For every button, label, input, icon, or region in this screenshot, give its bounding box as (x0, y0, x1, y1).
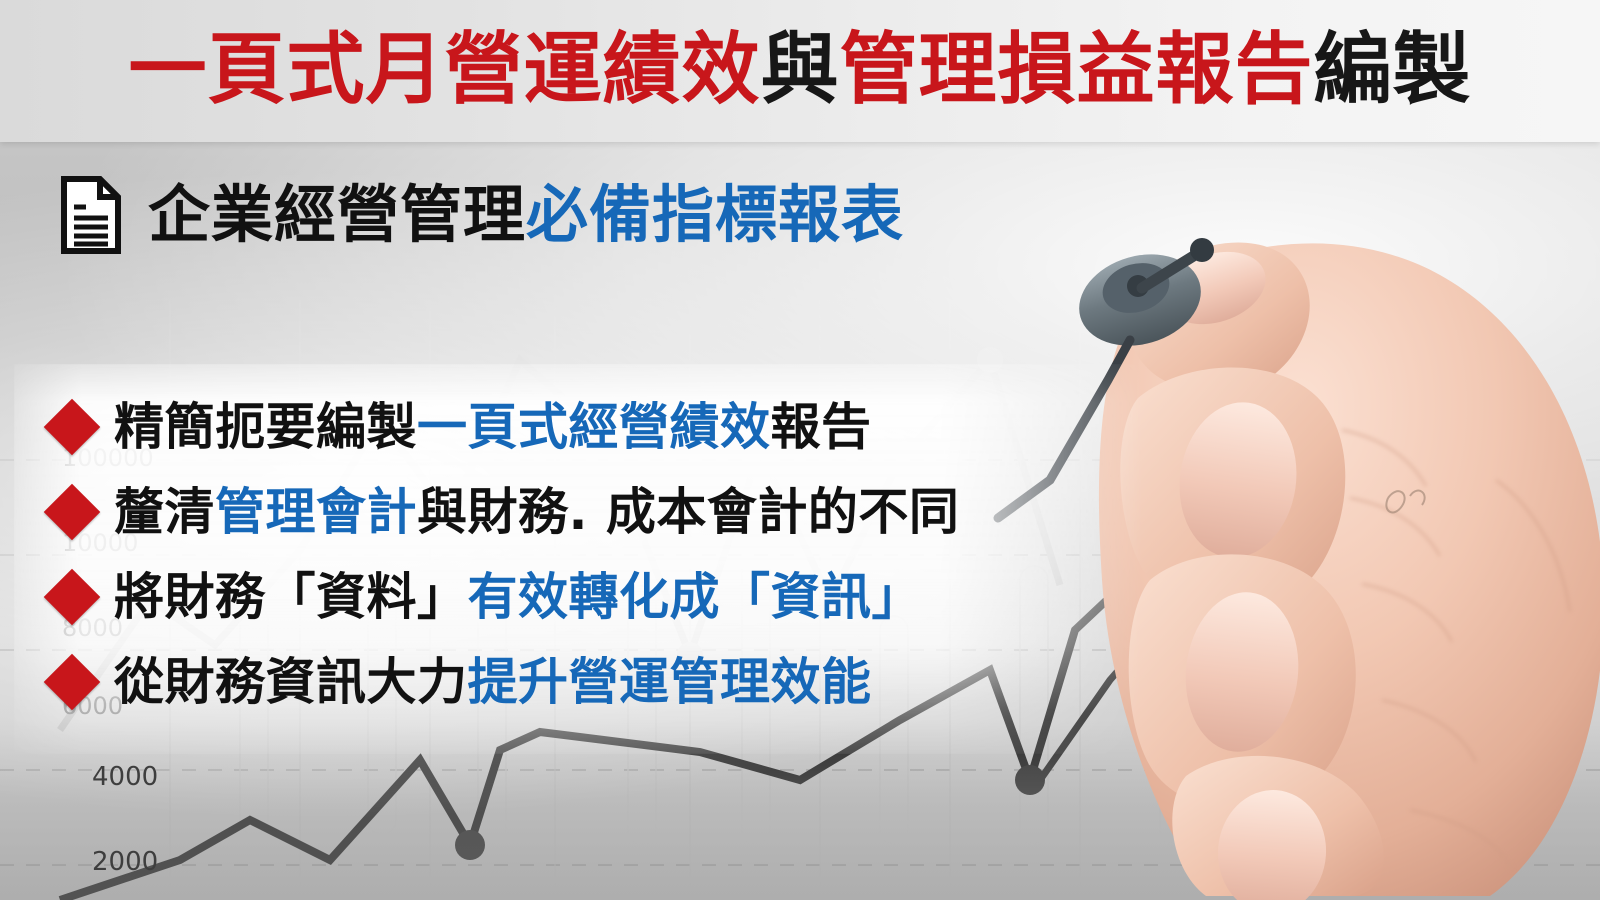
diamond-bullet-icon (44, 653, 101, 710)
bullet-text: 將財務「資料」有效轉化成「資訊」 (114, 568, 922, 626)
bullet-3-seg-1: 將財務「資料」 (114, 568, 468, 626)
list-item: 從財務資訊大力提升營運管理效能 (52, 639, 1112, 724)
title-segment-1: 一頁式月營運績效 (128, 25, 760, 115)
diamond-bullet-icon (44, 398, 101, 455)
bullet-text: 從財務資訊大力提升營運管理效能 (114, 653, 872, 711)
y-tick-label: 4000 (92, 762, 158, 792)
subtitle-black-part: 企業經營管理 (148, 178, 526, 251)
y-tick-label: 2000 (92, 847, 158, 877)
bullet-text: 釐清管理會計與財務. 成本會計的不同 (114, 483, 959, 541)
list-item: 將財務「資料」有效轉化成「資訊」 (52, 554, 1112, 639)
bullet-text: 精簡扼要編製一頁式經營績效報告 (114, 398, 872, 456)
list-item: 精簡扼要編製一頁式經營績效報告 (52, 384, 1112, 469)
page-title: 一頁式月營運績效與管理損益報告編製 (0, 14, 1600, 126)
list-item: 釐清管理會計與財務. 成本會計的不同 (52, 469, 1112, 554)
title-segment-4: 編製 (1314, 25, 1472, 115)
bullet-2-seg-3: 與財務. 成本會計的不同 (417, 483, 959, 541)
subtitle-text: 企業經營管理必備指標報表 (148, 176, 904, 254)
bullet-1-seg-1: 精簡扼要編製 (114, 398, 417, 456)
poster-canvas: 100000 10000 8000 6000 4000 2000 (0, 0, 1600, 900)
bullet-4-seg-1: 從財務資訊大力 (114, 653, 468, 711)
subtitle-blue-part: 必備指標報表 (526, 178, 904, 251)
title-segment-3: 管理損益報告 (840, 25, 1314, 115)
bullet-3-seg-2: 有效轉化成「資訊」 (468, 568, 923, 626)
bullet-2-seg-1: 釐清 (114, 483, 215, 541)
document-icon (60, 176, 122, 254)
subtitle-row: 企業經營管理必備指標報表 (60, 160, 904, 270)
diamond-bullet-icon (44, 483, 101, 540)
diamond-bullet-icon (44, 568, 101, 625)
bullet-1-seg-3: 報告 (771, 398, 872, 456)
bullet-2-seg-2: 管理會計 (215, 483, 417, 541)
title-segment-2: 與 (760, 25, 839, 115)
bullet-1-seg-2: 一頁式經營績效 (417, 398, 771, 456)
bullet-4-seg-2: 提升營運管理效能 (468, 653, 872, 711)
title-banner: 一頁式月營運績效與管理損益報告編製 (0, 0, 1600, 142)
bullet-list: 精簡扼要編製一頁式經營績效報告 釐清管理會計與財務. 成本會計的不同 將財務「資… (52, 384, 1112, 724)
